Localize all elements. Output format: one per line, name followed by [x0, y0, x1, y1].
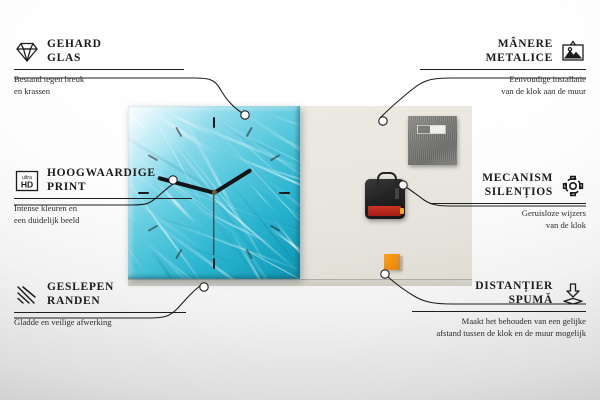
svg-text:HD: HD [21, 179, 33, 189]
callout-header: MECANISM SILENȚIOS [430, 172, 586, 199]
callout-title: GEHARD GLAS [47, 38, 102, 65]
foam-spacer [384, 254, 400, 270]
callout-title: MECANISM SILENȚIOS [482, 172, 553, 199]
callout-description: Geruisloze wijzers van de klok [430, 208, 586, 231]
callout-header: DISTANȚIER SPUMĂ [412, 280, 586, 307]
callout-mecanism-silentios[interactable]: MECANISM SILENȚIOS Geruisloze wijzers va… [430, 172, 586, 231]
callout-gehard-glas[interactable]: GEHARD GLAS Bestand tegen breuk en krass… [14, 38, 184, 97]
ultra-hd-icon: ultra HD [14, 169, 40, 193]
callout-description: Gladde en veilige afwerking [14, 317, 186, 329]
callout-rule [420, 69, 586, 70]
callout-title: MÂNERE METALICE [486, 38, 553, 65]
mechanism-hanging-loop [377, 172, 397, 185]
infographic-canvas: GEHARD GLAS Bestand tegen breuk en krass… [0, 0, 600, 400]
callout-hoogwaardige-print[interactable]: ultra HD HOOGWAARDIGE PRINT Intense kleu… [14, 167, 192, 226]
callout-distantier-spuma[interactable]: DISTANȚIER SPUMĂ Maakt het behouden van … [412, 280, 586, 339]
beveled-edges-icon [14, 283, 40, 307]
spacer-arrow-icon [560, 282, 586, 306]
callout-geslepen-randen[interactable]: GESLEPEN RANDEN Gladde en veilige afwerk… [14, 281, 186, 329]
callout-rule [430, 203, 586, 204]
callout-rule [14, 198, 192, 199]
callout-title: HOOGWAARDIGE PRINT [47, 167, 156, 194]
callout-rule [412, 311, 586, 312]
callout-rule [14, 69, 184, 70]
callout-header: ultra HD HOOGWAARDIGE PRINT [14, 167, 192, 194]
mechanism-shaft [395, 188, 399, 199]
callout-description: Maakt het behouden van een gelijke afsta… [412, 316, 586, 339]
clock-mechanism [365, 179, 405, 219]
callout-rule [14, 312, 186, 313]
mechanism-battery [368, 206, 401, 216]
callout-title: GESLEPEN RANDEN [47, 281, 114, 308]
callout-manere-metalice[interactable]: MÂNERE METALICE Eenvoudige installatie v… [420, 38, 586, 97]
hanger-plate-slot [417, 125, 446, 134]
callout-description: Eenvoudige installatie van de klok aan d… [420, 74, 586, 97]
picture-frame-hook-icon [560, 40, 586, 64]
metal-hanger-plate [408, 116, 457, 165]
callout-header: GESLEPEN RANDEN [14, 281, 186, 308]
callout-header: MÂNERE METALICE [420, 38, 586, 65]
callout-header: GEHARD GLAS [14, 38, 184, 65]
callout-description: Intense kleuren en een duidelijk beeld [14, 203, 192, 226]
diamond-icon [14, 40, 40, 64]
gear-icon [560, 174, 586, 198]
callout-title: DISTANȚIER SPUMĂ [475, 280, 553, 307]
callout-description: Bestand tegen breuk en krassen [14, 74, 184, 97]
